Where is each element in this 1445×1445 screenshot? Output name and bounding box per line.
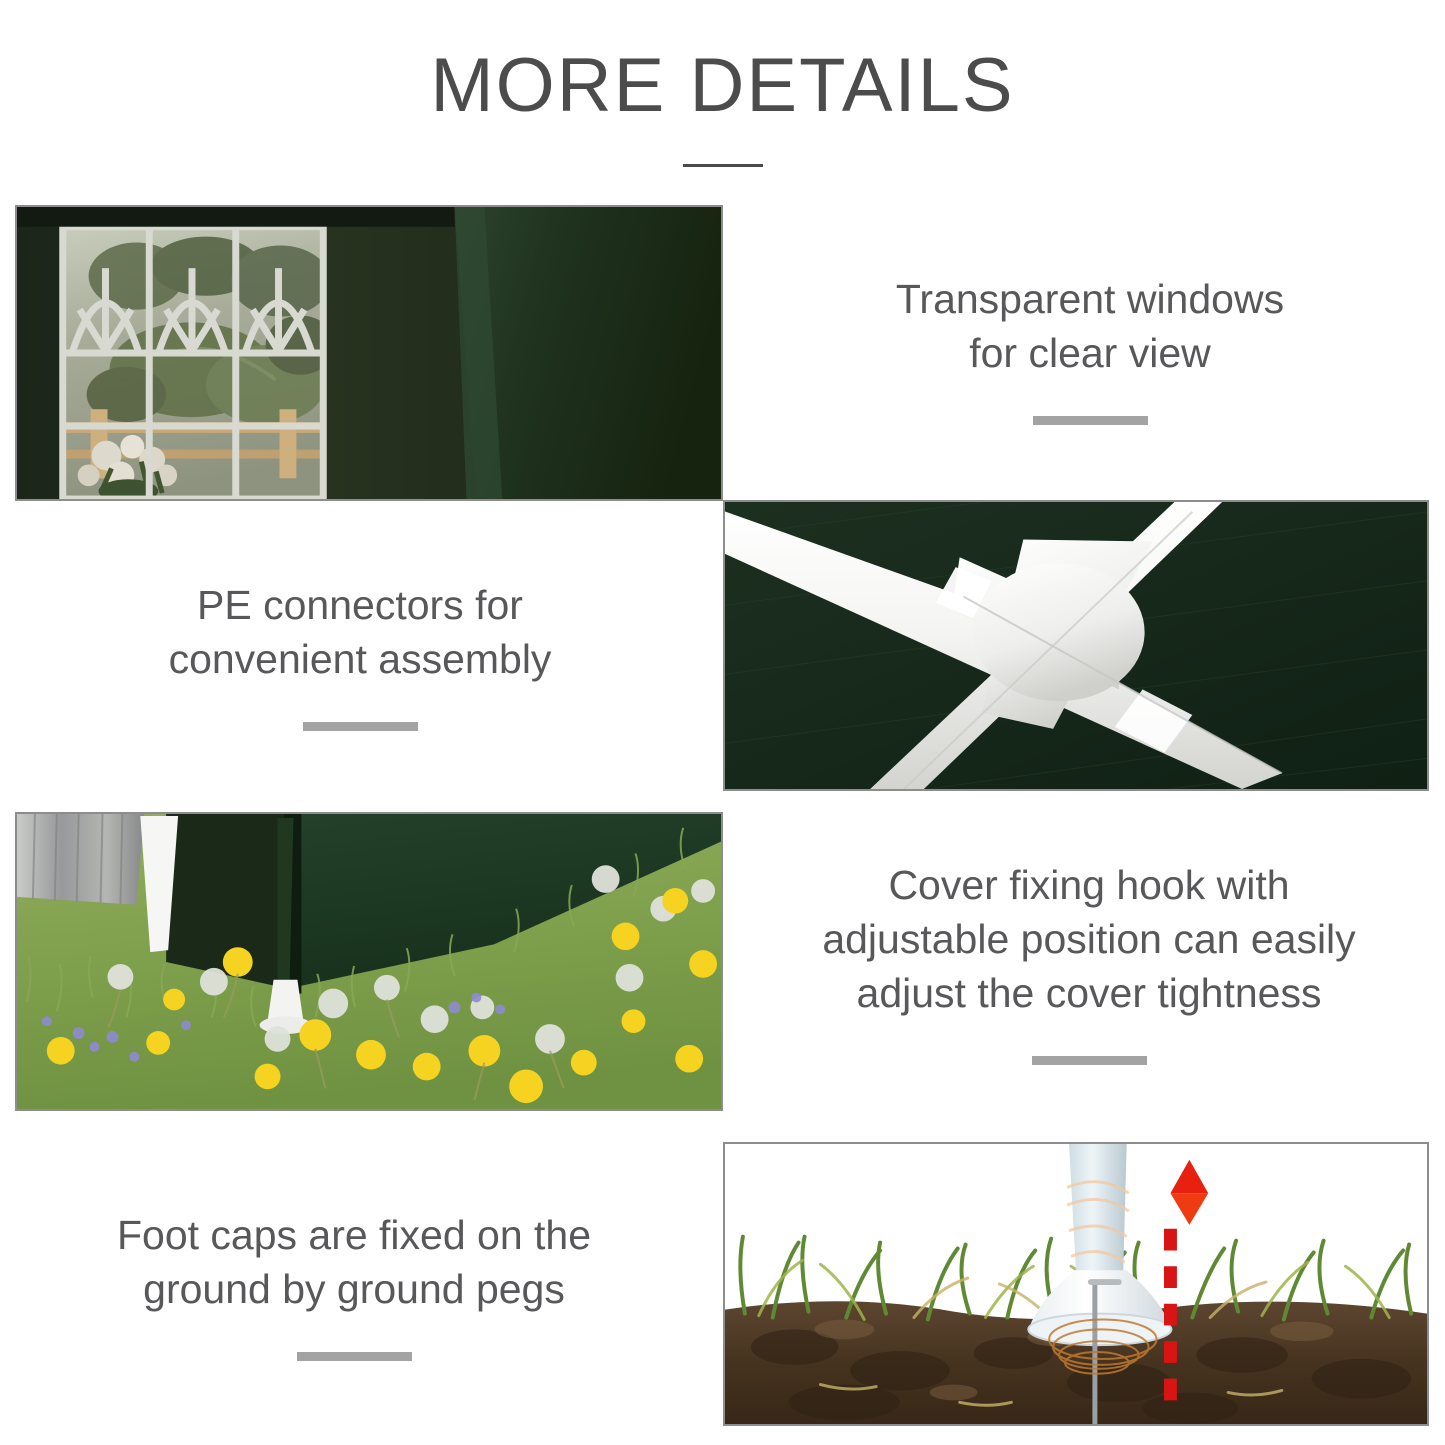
- caption-line: PE connectors for: [20, 578, 700, 632]
- caption-line: convenient assembly: [20, 632, 700, 686]
- connector-photo-illustration: [725, 502, 1427, 789]
- caption-pe-connector: PE connectors for convenient assembly: [20, 578, 700, 731]
- caption-ground-pegs: Foot caps are fixed on the ground by gro…: [18, 1208, 690, 1361]
- title-divider: [683, 164, 763, 167]
- caption-line: for clear view: [760, 326, 1420, 380]
- infographic-page: MORE DETAILS: [0, 0, 1445, 1445]
- caption-divider: [297, 1352, 412, 1361]
- window-photo-illustration: [17, 207, 721, 499]
- caption-line: adjust the cover tightness: [748, 966, 1430, 1020]
- caption-divider: [1032, 1056, 1147, 1065]
- photo-cover-fixing-hook: [15, 812, 723, 1111]
- caption-divider: [303, 722, 418, 731]
- photo-transparent-windows: [15, 205, 723, 501]
- caption-line: ground by ground pegs: [18, 1262, 690, 1316]
- caption-divider: [1033, 416, 1148, 425]
- caption-transparent-windows: Transparent windows for clear view: [760, 272, 1420, 425]
- caption-line: Cover fixing hook with: [748, 858, 1430, 912]
- page-title: MORE DETAILS: [0, 48, 1445, 124]
- caption-line: adjustable position can easily: [748, 912, 1430, 966]
- ground-peg-illustration: [725, 1144, 1427, 1424]
- photo-pe-connector: [723, 500, 1429, 791]
- photo-ground-peg: [723, 1142, 1429, 1426]
- caption-line: Foot caps are fixed on the: [18, 1208, 690, 1262]
- meadow-photo-illustration: [17, 814, 721, 1109]
- caption-cover-fixing-hook: Cover fixing hook with adjustable positi…: [748, 858, 1430, 1065]
- header: MORE DETAILS: [0, 48, 1445, 167]
- caption-line: Transparent windows: [760, 272, 1420, 326]
